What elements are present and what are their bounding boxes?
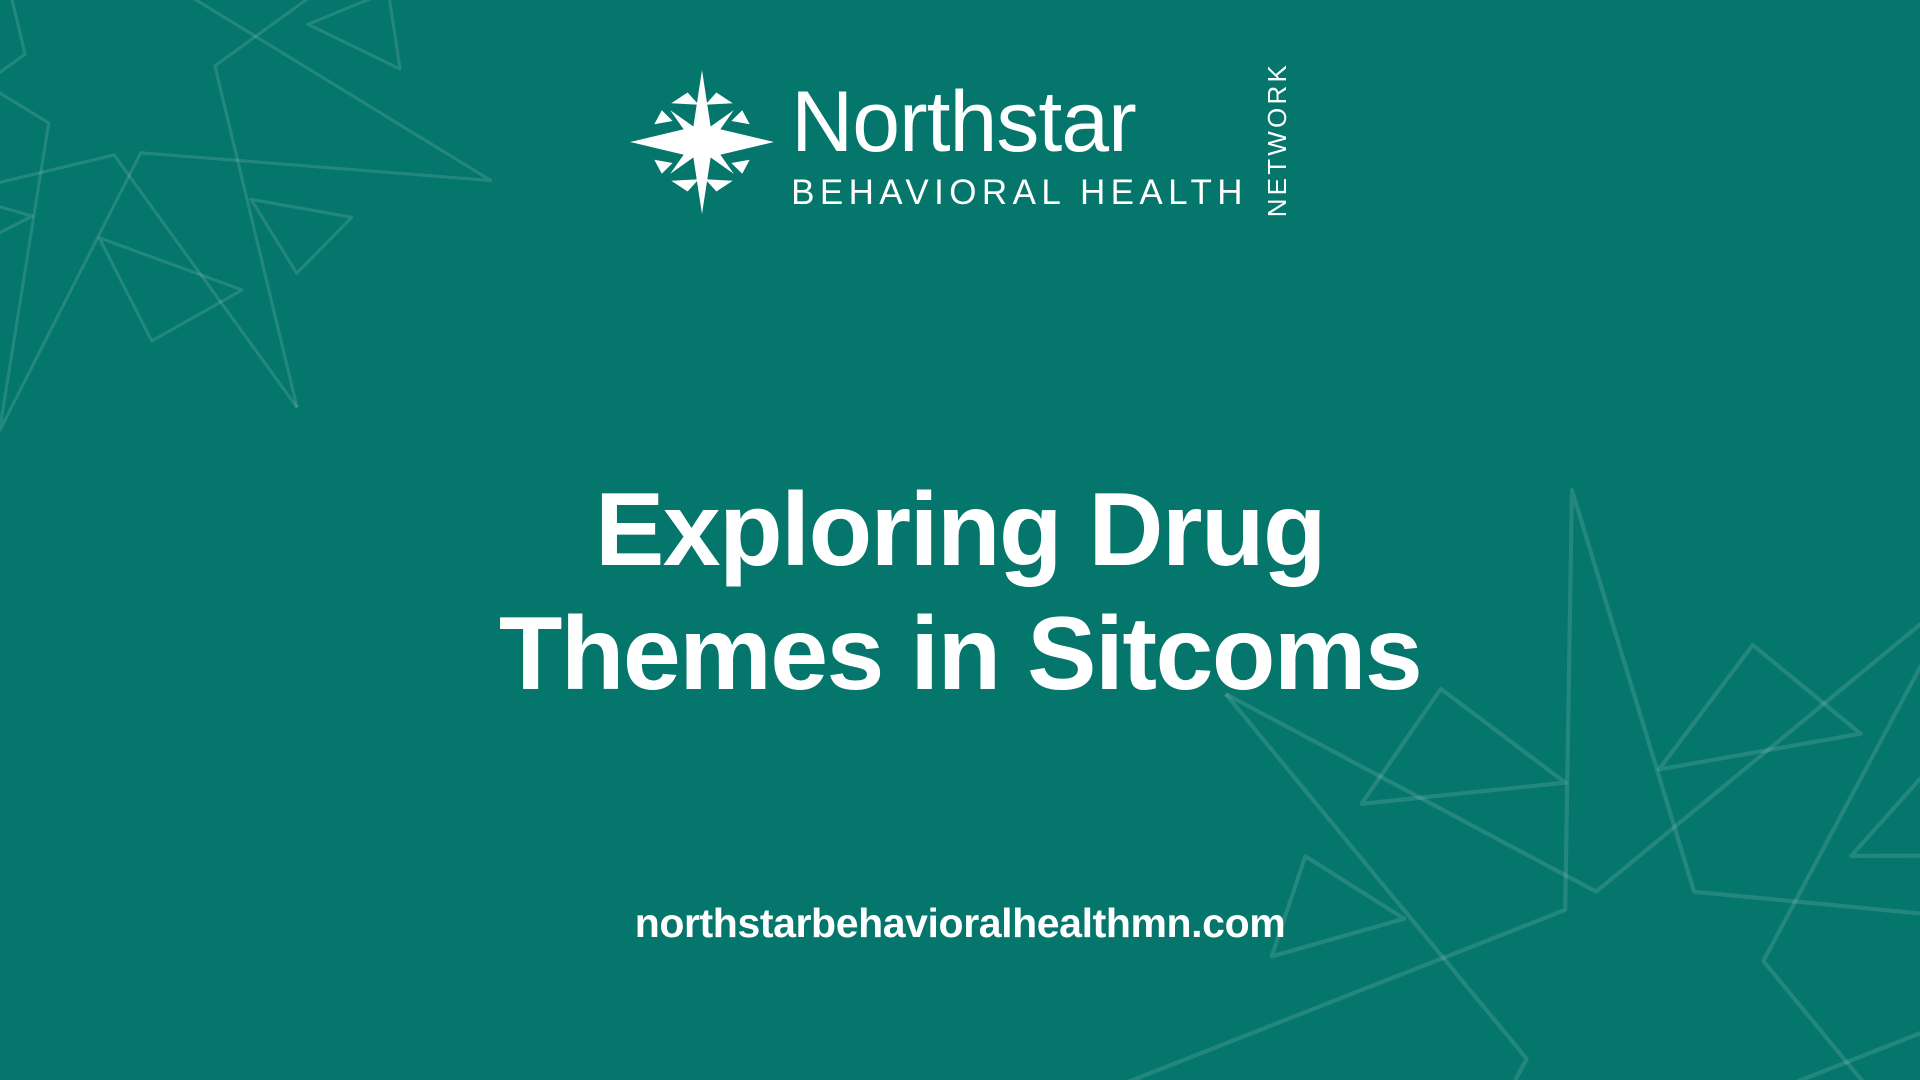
page-title-line-2: Themes in Sitcoms: [300, 592, 1620, 717]
logo-text-block: Northstar BEHAVIORAL HEALTH: [791, 62, 1248, 223]
logo-network-label: NETWORK: [1262, 62, 1293, 217]
logo-network-wrap: NETWORK: [1262, 62, 1293, 223]
brand-logo-lockup: Northstar BEHAVIORAL HEALTH NETWORK: [0, 62, 1920, 223]
compass-star-icon: [627, 62, 777, 222]
logo-tagline: BEHAVIORAL HEALTH: [791, 175, 1248, 210]
website-url[interactable]: northstarbehavioralhealthmn.com: [0, 900, 1920, 947]
logo-wordmark: Northstar: [791, 81, 1248, 164]
page-title-line-1: Exploring Drug: [300, 468, 1620, 593]
page-title: Exploring Drug Themes in Sitcoms: [0, 468, 1920, 718]
